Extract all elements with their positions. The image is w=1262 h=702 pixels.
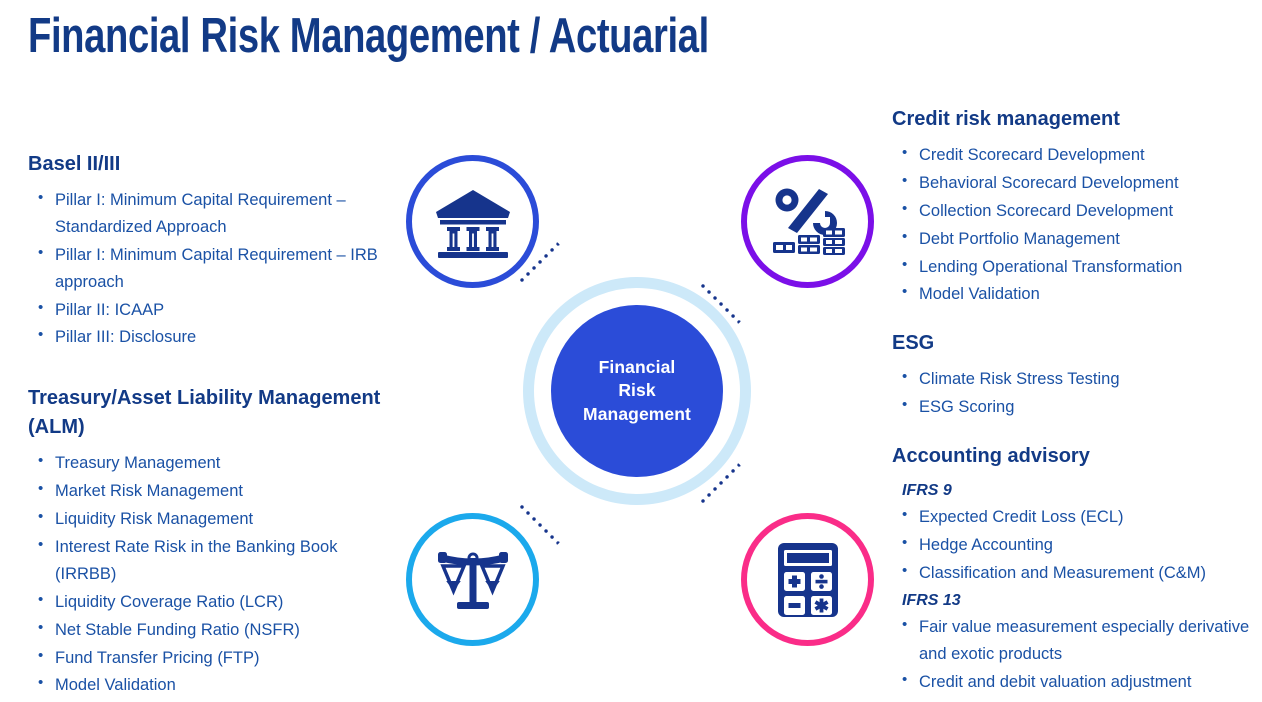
icon-circle-scales[interactable] <box>406 513 539 646</box>
icon-circle-percent-coins[interactable] <box>741 155 874 288</box>
list-item: ESG Scoring <box>892 394 1260 421</box>
list-item: Climate Risk Stress Testing <box>892 366 1260 393</box>
icon-circle-calculator[interactable] <box>741 513 874 646</box>
list-alm: Treasury Management Market Risk Manageme… <box>28 450 388 699</box>
page-title: Financial Risk Management / Actuarial <box>28 8 709 64</box>
list-ifrs-13: Fair value measurement especially deriva… <box>892 614 1260 696</box>
balance-scales-icon <box>433 544 513 616</box>
list-item: Debt Portfolio Management <box>892 226 1260 253</box>
list-item: Model Validation <box>892 281 1260 308</box>
hub-label-line-3: Management <box>583 404 691 424</box>
list-item: Credit and debit valuation adjustment <box>892 669 1260 696</box>
subheading-ifrs-9: IFRS 9 <box>902 479 1260 503</box>
spacer <box>28 352 388 384</box>
list-item: Liquidity Risk Management <box>28 506 388 533</box>
list-esg: Climate Risk Stress Testing ESG Scoring <box>892 366 1260 421</box>
spacer <box>892 309 1260 329</box>
list-item: Pillar II: ICAAP <box>28 297 388 324</box>
list-item: Pillar I: Minimum Capital Requirement – … <box>28 242 388 296</box>
spacer <box>892 422 1260 442</box>
bank-building-icon <box>434 186 512 258</box>
list-item: Liquidity Coverage Ratio (LCR) <box>28 589 388 616</box>
right-column: Credit risk management Credit Scorecard … <box>892 105 1260 696</box>
left-column: Basel II/III Pillar I: Minimum Capital R… <box>28 150 388 700</box>
list-item: Collection Scorecard Development <box>892 198 1260 225</box>
icon-circle-bank[interactable] <box>406 155 539 288</box>
list-item: Fund Transfer Pricing (FTP) <box>28 645 388 672</box>
list-item: Fair value measurement especially deriva… <box>892 614 1260 668</box>
hub-label-line-1: Financial <box>599 357 676 377</box>
list-ifrs-9: Expected Credit Loss (ECL) Hedge Account… <box>892 504 1260 587</box>
list-basel: Pillar I: Minimum Capital Requirement – … <box>28 187 388 351</box>
list-item: Pillar I: Minimum Capital Requirement – … <box>28 187 388 241</box>
hub-label-line-2: Risk <box>618 380 655 400</box>
section-heading-alm: Treasury/Asset Liability Management (ALM… <box>28 384 388 442</box>
hub-center-circle: Financial Risk Management <box>551 305 723 477</box>
section-heading-credit-risk: Credit risk management <box>892 105 1260 134</box>
slide-canvas: Financial Risk Management / Actuarial Ba… <box>0 0 1262 702</box>
list-item: Interest Rate Risk in the Banking Book (… <box>28 534 388 588</box>
percent-coins-icon <box>767 183 849 261</box>
list-item: Pillar III: Disclosure <box>28 324 388 351</box>
subheading-ifrs-13: IFRS 13 <box>902 589 1260 613</box>
section-heading-accounting-advisory: Accounting advisory <box>892 442 1260 471</box>
calculator-icon <box>776 541 840 619</box>
list-item: Credit Scorecard Development <box>892 142 1260 169</box>
section-heading-basel: Basel II/III <box>28 150 388 179</box>
list-item: Treasury Management <box>28 450 388 477</box>
list-item: Lending Operational Transformation <box>892 254 1260 281</box>
list-item: Market Risk Management <box>28 478 388 505</box>
section-heading-esg: ESG <box>892 329 1260 358</box>
list-item: Hedge Accounting <box>892 532 1260 559</box>
hub-label: Financial Risk Management <box>583 356 691 427</box>
list-item: Expected Credit Loss (ECL) <box>892 504 1260 531</box>
list-item: Net Stable Funding Ratio (NSFR) <box>28 617 388 644</box>
list-credit-risk: Credit Scorecard Development Behavioral … <box>892 142 1260 308</box>
list-item: Classification and Measurement (C&M) <box>892 560 1260 587</box>
list-item: Model Validation <box>28 672 388 699</box>
list-item: Behavioral Scorecard Development <box>892 170 1260 197</box>
